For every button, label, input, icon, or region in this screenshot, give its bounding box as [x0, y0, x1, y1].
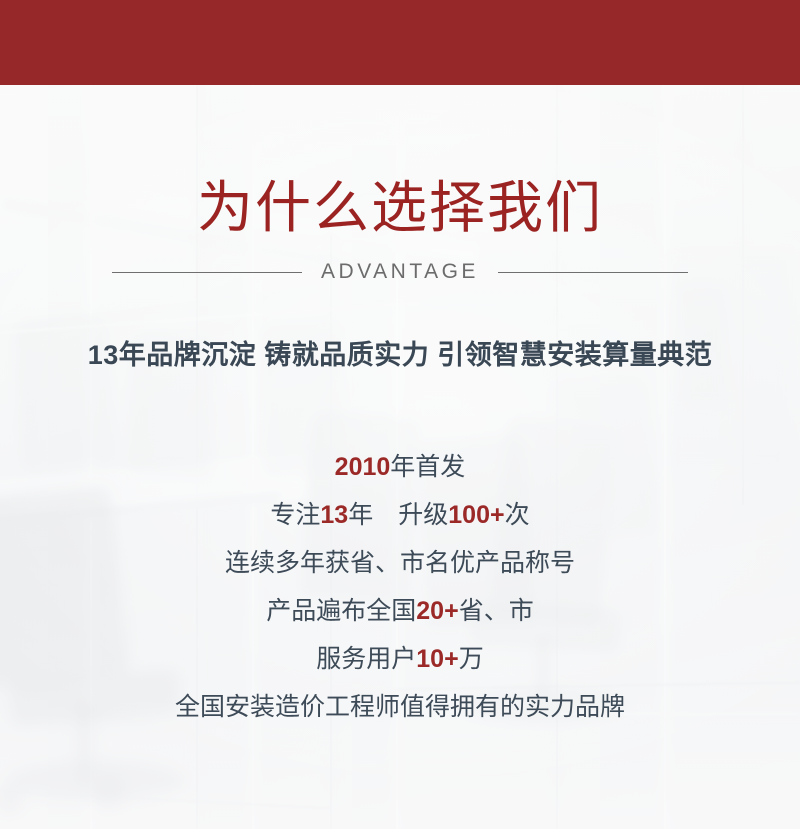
fact-text: 专注 — [270, 501, 320, 529]
fact-text: 次 — [505, 501, 530, 529]
fact-number: 20+ — [416, 597, 458, 625]
fact-line: 产品遍布全国20+省、市 — [0, 587, 800, 635]
top-red-bar — [0, 0, 800, 85]
fact-line: 全国安装造价工程师值得拥有的实力品牌 — [0, 683, 800, 731]
fact-number: 100+ — [448, 501, 504, 529]
fact-text: 全国安装造价工程师值得拥有的实力品牌 — [175, 693, 625, 721]
fact-text — [373, 501, 398, 529]
fact-text: 省、市 — [459, 597, 534, 625]
fact-text: 升级 — [398, 501, 448, 529]
fact-line: 2010年首发 — [0, 443, 800, 491]
divider-line-left — [112, 272, 302, 273]
page-title: 为什么选择我们 — [0, 177, 800, 239]
fact-number: 10+ — [416, 645, 458, 673]
divider-line-right — [498, 272, 688, 273]
fact-text: 年首发 — [390, 453, 465, 481]
fact-line: 专注13年 升级100+次 — [0, 491, 800, 539]
fact-list: 2010年首发专注13年 升级100+次连续多年获省、市名优产品称号产品遍布全国… — [0, 443, 800, 731]
tagline: 13年品牌沉淀 铸就品质实力 引领智慧安装算量典范 — [0, 338, 800, 372]
fact-number: 2010 — [335, 453, 391, 481]
fact-line: 服务用户10+万 — [0, 635, 800, 683]
fact-text: 年 — [348, 501, 373, 529]
fact-text: 连续多年获省、市名优产品称号 — [225, 549, 575, 577]
subtitle-row: ADVANTAGE — [0, 257, 800, 287]
banner-content: 为什么选择我们 ADVANTAGE 13年品牌沉淀 铸就品质实力 引领智慧安装算… — [0, 85, 800, 829]
fact-number: 13 — [320, 501, 348, 529]
fact-text: 产品遍布全国 — [266, 597, 416, 625]
advantage-banner: 为什么选择我们 ADVANTAGE 13年品牌沉淀 铸就品质实力 引领智慧安装算… — [0, 0, 800, 829]
fact-line: 连续多年获省、市名优产品称号 — [0, 539, 800, 587]
subtitle-english: ADVANTAGE — [321, 260, 479, 284]
fact-text: 万 — [459, 645, 484, 673]
fact-text: 服务用户 — [316, 645, 416, 673]
